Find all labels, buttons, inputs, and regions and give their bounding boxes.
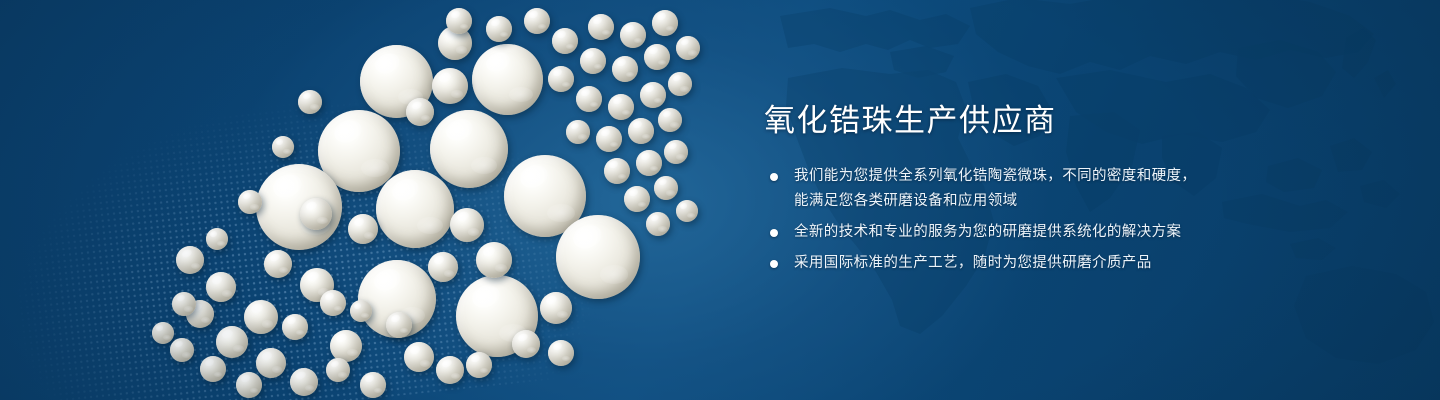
hero-banner: 氧化锆珠生产供应商 我们能为您提供全系列氧化锆陶瓷微珠，不同的密度和硬度， 能满… bbox=[0, 0, 1440, 400]
banner-vignette-overlay bbox=[0, 0, 1440, 400]
